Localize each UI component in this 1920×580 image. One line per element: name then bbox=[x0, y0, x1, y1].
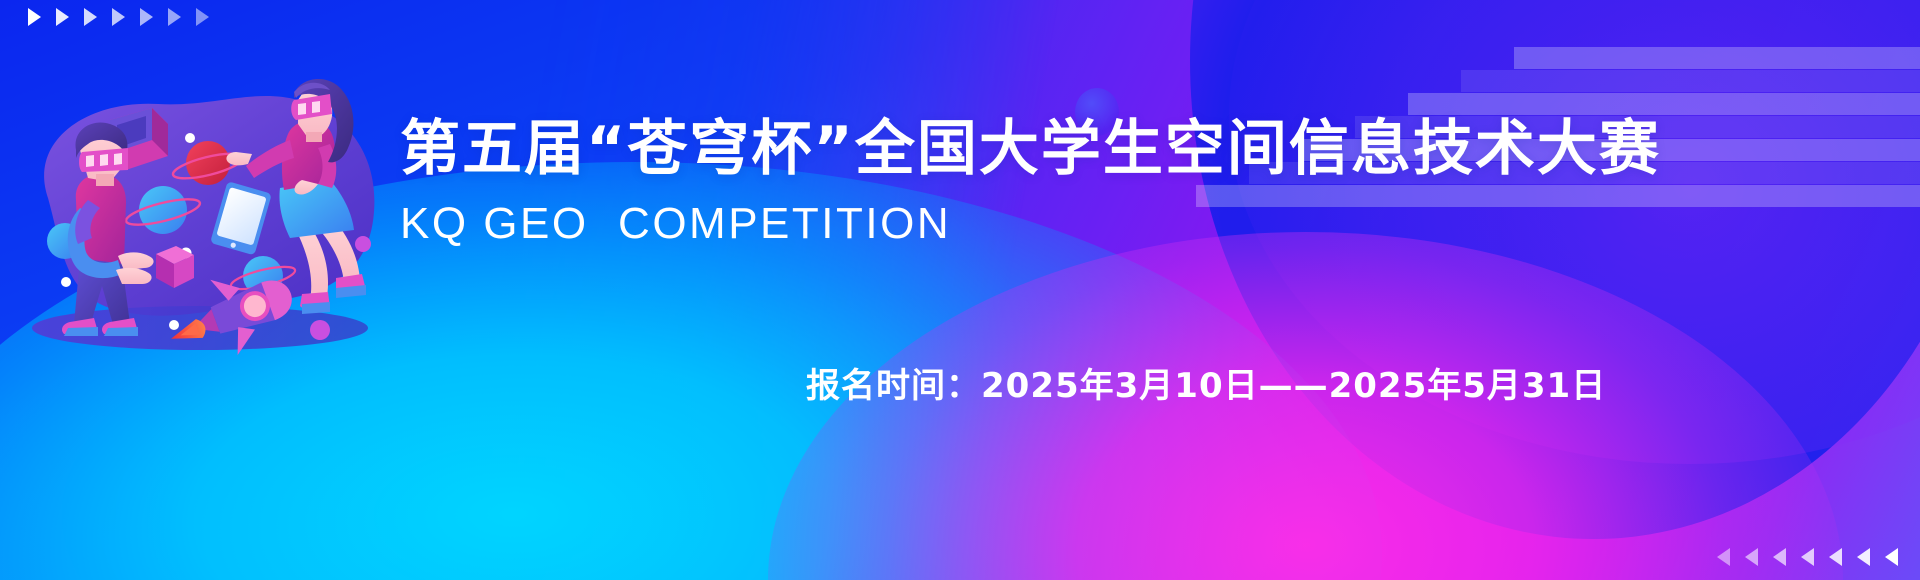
triangle-right-icon bbox=[196, 8, 209, 26]
decor-stripe bbox=[1514, 47, 1920, 69]
banner-title-cn: 第五届“苍穹杯”全国大学生空间信息技术大赛 bbox=[400, 118, 1661, 182]
dot-white bbox=[169, 320, 179, 330]
triangle-left-icon bbox=[1885, 548, 1898, 566]
triangle-left-icon bbox=[1857, 548, 1870, 566]
triangle-left-icon bbox=[1829, 548, 1842, 566]
triangle-right-icon bbox=[56, 8, 69, 26]
dot-white bbox=[61, 277, 71, 287]
triangle-left-icon bbox=[1773, 548, 1786, 566]
vr-space-illustration bbox=[18, 78, 398, 378]
banner-title-en: KQ GEO COMPETITION bbox=[400, 200, 1661, 248]
triangle-right-icon bbox=[28, 8, 41, 26]
decor-stripe bbox=[1461, 70, 1920, 92]
dot-pink bbox=[355, 236, 371, 252]
triangle-left-icon bbox=[1717, 548, 1730, 566]
triangle-left-icon bbox=[1801, 548, 1814, 566]
triangle-left-icon bbox=[1745, 548, 1758, 566]
decor-arrows-bottom-right bbox=[1717, 548, 1898, 566]
triangle-right-icon bbox=[112, 8, 125, 26]
registration-period: 报名时间：2025年3月10日——2025年5月31日 bbox=[806, 358, 1606, 407]
dot-white bbox=[185, 133, 195, 143]
decor-arrows-top-left bbox=[28, 8, 209, 26]
triangle-right-icon bbox=[168, 8, 181, 26]
triangle-right-icon bbox=[140, 8, 153, 26]
triangle-right-icon bbox=[84, 8, 97, 26]
dot-pink bbox=[310, 320, 330, 340]
decor-stripe bbox=[1408, 93, 1920, 115]
competition-banner: 第五届“苍穹杯”全国大学生空间信息技术大赛 KQ GEO COMPETITION… bbox=[0, 0, 1920, 580]
banner-text-block: 第五届“苍穹杯”全国大学生空间信息技术大赛 KQ GEO COMPETITION bbox=[400, 118, 1661, 248]
